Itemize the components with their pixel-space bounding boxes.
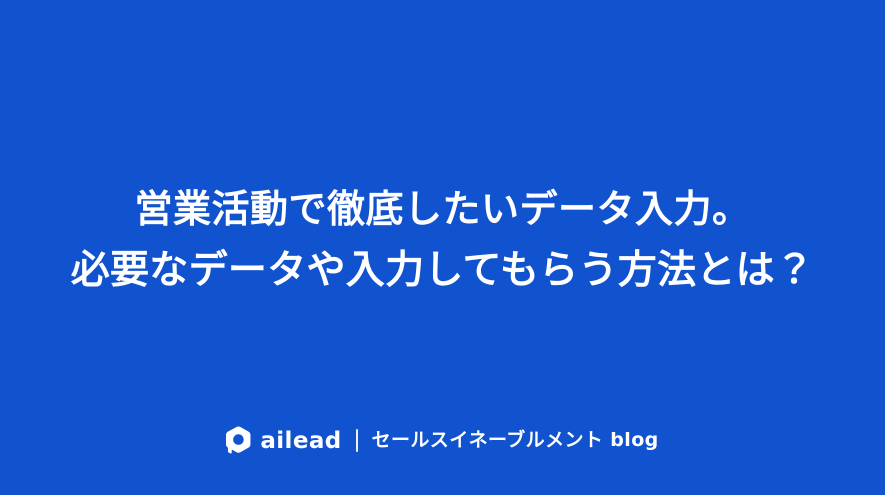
brand-divider xyxy=(356,429,358,452)
title-line-2: 必要なデータや入力してもらう方法とは？ xyxy=(20,240,865,302)
brand-name: ailead xyxy=(260,430,341,453)
brand-footer: ailead セールスイネーブルメント blog xyxy=(0,426,885,454)
ailead-hexagon-logo-icon xyxy=(226,426,251,454)
title-line-1: 営業活動で徹底したいデータ入力。 xyxy=(20,178,865,240)
page-title: 営業活動で徹底したいデータ入力。 必要なデータや入力してもらう方法とは？ xyxy=(0,178,885,302)
brand-lockup: ailead xyxy=(226,426,341,454)
brand-tagline: セールスイネーブルメント blog xyxy=(372,431,659,450)
cover-slide: 営業活動で徹底したいデータ入力。 必要なデータや入力してもらう方法とは？ ail… xyxy=(0,0,885,495)
